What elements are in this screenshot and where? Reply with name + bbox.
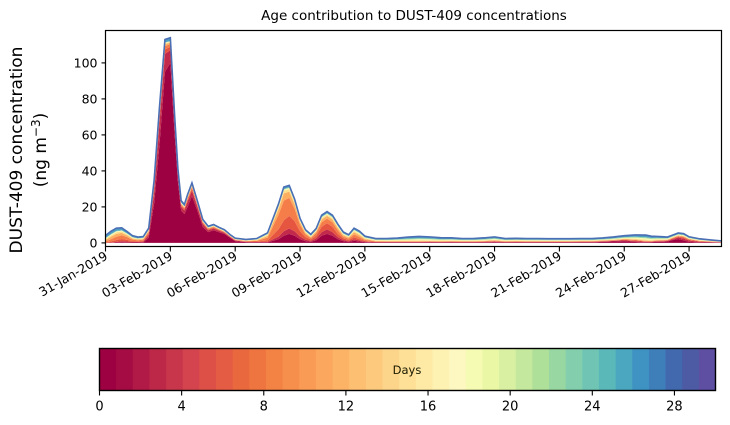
colorbar-cell	[682, 349, 699, 391]
colorbar-tick-label: 0	[95, 400, 103, 415]
colorbar-cell	[532, 349, 549, 391]
figure-svg: Age contribution to DUST-409 concentrati…	[0, 0, 730, 425]
x-tick-label: 21-Feb-2019	[488, 248, 564, 300]
colorbar-cell	[249, 349, 266, 391]
colorbar-cell	[199, 349, 216, 391]
colorbar-tick-label: 20	[502, 400, 519, 415]
colorbar-cell	[632, 349, 649, 391]
colorbar-cell	[116, 349, 133, 391]
y-axis-paren: )	[31, 113, 51, 120]
colorbar-tick-label: 28	[666, 400, 683, 415]
colorbar-tick-label: 12	[338, 400, 355, 415]
colorbar[interactable]: Days 0481216202428	[95, 349, 716, 415]
colorbar-cell	[233, 349, 250, 391]
colorbar-cell	[349, 349, 366, 391]
colorbar-ticks: 0481216202428	[95, 391, 682, 415]
x-tick-label: 06-Feb-2019	[164, 248, 240, 300]
x-axis-ticks: 31-Jan-201903-Feb-201906-Feb-201909-Feb-…	[36, 247, 694, 301]
x-tick-label: 12-Feb-2019	[294, 248, 370, 300]
colorbar-cell	[499, 349, 516, 391]
colorbar-cell	[699, 349, 716, 391]
colorbar-cell	[100, 349, 117, 391]
y-axis-exponent: −3	[29, 119, 43, 137]
colorbar-cell	[466, 349, 483, 391]
colorbar-cell	[316, 349, 333, 391]
colorbar-cell	[283, 349, 300, 391]
colorbar-cell	[516, 349, 533, 391]
colorbar-label: Days	[393, 363, 422, 377]
x-tick-label: 18-Feb-2019	[423, 248, 499, 300]
colorbar-cell	[166, 349, 183, 391]
y-tick-label: 40	[82, 163, 98, 178]
x-tick-label: 03-Feb-2019	[99, 248, 175, 300]
colorbar-tick-label: 16	[420, 400, 437, 415]
colorbar-cell	[649, 349, 666, 391]
colorbar-cell	[299, 349, 316, 391]
colorbar-cell	[616, 349, 633, 391]
colorbar-cell	[449, 349, 466, 391]
y-tick-label: 0	[90, 235, 98, 250]
colorbar-cell	[133, 349, 150, 391]
chart-title: Age contribution to DUST-409 concentrati…	[261, 8, 567, 24]
y-axis-label-line1: DUST-409 concentration	[7, 47, 27, 254]
y-tick-label: 100	[74, 55, 98, 70]
y-axis-ticks: 020406080100	[74, 55, 106, 250]
x-tick-label: 24-Feb-2019	[553, 248, 629, 300]
colorbar-cell	[482, 349, 499, 391]
y-tick-label: 20	[82, 199, 98, 214]
x-tick-label: 27-Feb-2019	[618, 248, 694, 300]
colorbar-cell	[666, 349, 683, 391]
y-tick-label: 60	[82, 127, 98, 142]
x-tick-label: 09-Feb-2019	[229, 248, 305, 300]
colorbar-cell	[599, 349, 616, 391]
chart-root: Age contribution to DUST-409 concentrati…	[0, 0, 730, 425]
colorbar-cell	[366, 349, 383, 391]
colorbar-tick-label: 24	[584, 400, 601, 415]
colorbar-cell	[432, 349, 449, 391]
colorbar-cell	[333, 349, 350, 391]
x-tick-label: 31-Jan-2019	[36, 248, 110, 299]
y-axis-units: (ng m	[31, 137, 51, 187]
colorbar-cell	[566, 349, 583, 391]
x-tick-label: 15-Feb-2019	[358, 248, 434, 300]
colorbar-cell	[549, 349, 566, 391]
colorbar-cell	[149, 349, 166, 391]
y-axis-label: DUST-409 concentration (ng m−3)	[7, 47, 51, 254]
stacked-areas	[106, 38, 722, 243]
colorbar-tick-label: 4	[177, 400, 185, 415]
y-axis-label-line2: (ng m−3)	[29, 113, 51, 188]
colorbar-cell	[183, 349, 200, 391]
colorbar-cell	[216, 349, 233, 391]
colorbar-tick-label: 8	[260, 400, 268, 415]
colorbar-cell	[582, 349, 599, 391]
colorbar-cell	[266, 349, 283, 391]
y-tick-label: 80	[82, 91, 98, 106]
area-band-0	[106, 63, 722, 243]
